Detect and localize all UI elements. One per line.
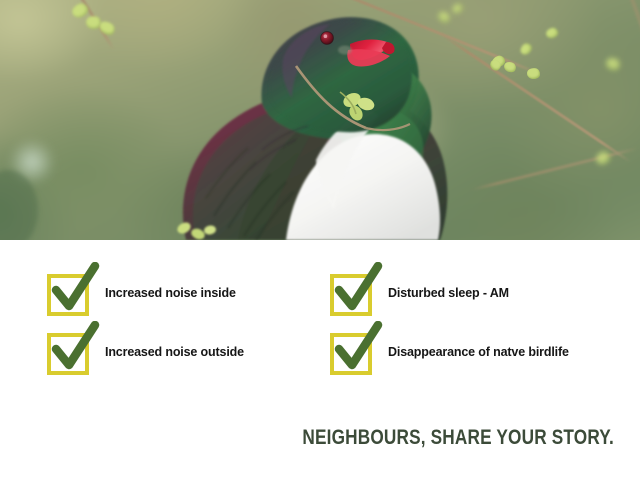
tagline: NEIGHBOURS, SHARE YOUR STORY. bbox=[302, 426, 614, 450]
checklist-item-label: Disappearance of natve birdlife bbox=[388, 345, 569, 359]
checklist-item-label: Increased noise inside bbox=[105, 286, 236, 300]
checkbox-icon[interactable] bbox=[47, 274, 89, 316]
slide-canvas: Increased noise inside Increased noise o… bbox=[0, 0, 640, 480]
checkbox-icon[interactable] bbox=[330, 333, 372, 375]
hero-photo-kereru bbox=[0, 0, 640, 240]
checkbox-icon[interactable] bbox=[330, 274, 372, 316]
checklist-item-label: Increased noise outside bbox=[105, 345, 244, 359]
checklist-item-label: Disturbed sleep - AM bbox=[388, 286, 509, 300]
kereru-bird-illustration bbox=[0, 0, 640, 240]
checkbox-icon[interactable] bbox=[47, 333, 89, 375]
